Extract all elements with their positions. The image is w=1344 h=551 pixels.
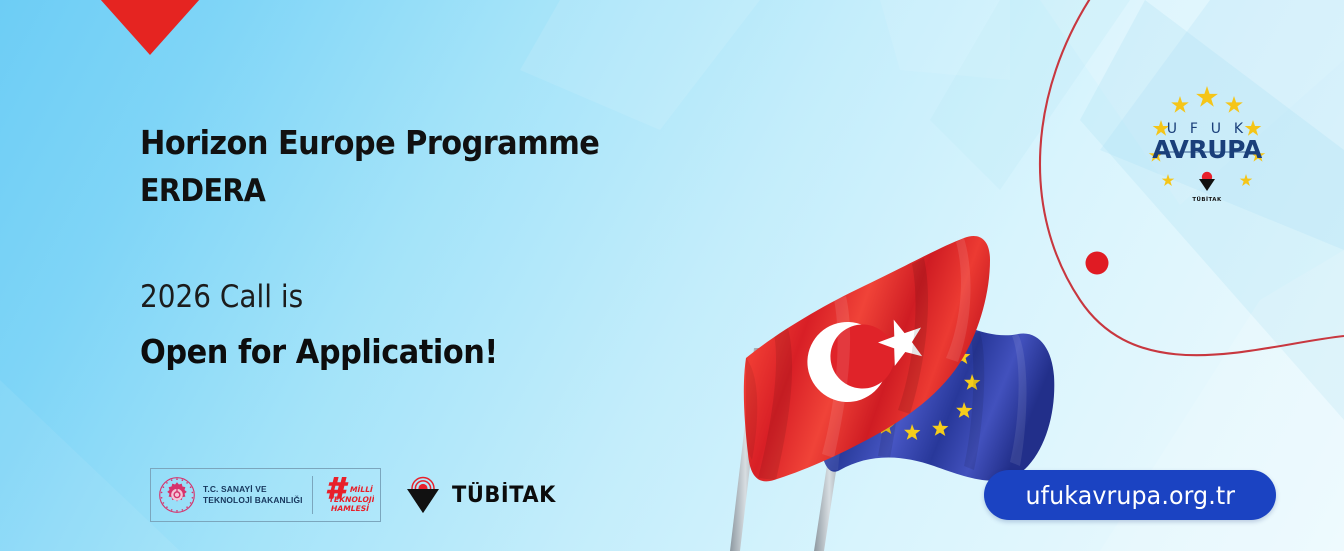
tubitak-logo-icon	[403, 475, 443, 515]
avrupa-text-group: AVRUPA	[1152, 135, 1263, 164]
ministry-name-line2: TEKNOLOJİ BAKANLIĞI	[203, 495, 303, 506]
tubitak-lockup: TÜBİTAK	[403, 475, 561, 515]
call-year-text: 2026 Call is	[140, 282, 490, 313]
page-title: Horizon Europe Programme	[140, 126, 599, 159]
subheading-block: 2026 Call is Open for Application!	[140, 282, 529, 368]
svg-text:MİLLİ: MİLLİ	[349, 485, 374, 494]
ufuk-tubitak-label: TÜBİTAK	[1192, 196, 1222, 203]
website-url-button[interactable]: ufukavrupa.org.tr	[984, 470, 1276, 520]
ministry-lockup: T.C. SANAYİ VE TEKNOLOJİ BAKANLIĞI	[158, 476, 303, 514]
avrupa-text: AVRUPA	[1152, 135, 1263, 164]
tubitak-wordmark: TÜBİTAK	[452, 483, 556, 508]
ufuk-avrupa-logo: U F U K AVRUPA TÜBİTAK	[1132, 78, 1282, 208]
svg-text:TEKNOLOJİ: TEKNOLOJİ	[327, 495, 373, 504]
website-url-label: ufukavrupa.org.tr	[1025, 481, 1235, 510]
svg-text:HAMLESİ: HAMLESİ	[330, 504, 370, 513]
logo-divider	[312, 476, 313, 514]
ministry-logo-box: T.C. SANAYİ VE TEKNOLOJİ BAKANLIĞI MİLLİ…	[150, 468, 381, 522]
red-triangle-decoration	[100, 0, 200, 55]
ministry-gear-emblem	[158, 476, 196, 514]
call-status-text: Open for Application!	[140, 335, 498, 368]
banner-root: Horizon Europe Programme ERDERA 2026 Cal…	[0, 0, 1344, 551]
headline-block: Horizon Europe Programme ERDERA	[140, 126, 639, 207]
ufuk-tubitak-submark: TÜBİTAK	[1192, 172, 1222, 203]
institutional-logo-strip: T.C. SANAYİ VE TEKNOLOJİ BAKANLIĞI MİLLİ…	[150, 468, 561, 522]
ministry-name-line1: T.C. SANAYİ VE	[203, 484, 303, 495]
page-subtitle-programme: ERDERA	[140, 176, 599, 207]
ministry-name: T.C. SANAYİ VE TEKNOLOJİ BAKANLIĞI	[203, 484, 303, 506]
milli-teknoloji-hamlesi-icon: MİLLİ TEKNOLOJİ HAMLESİ	[322, 475, 374, 515]
